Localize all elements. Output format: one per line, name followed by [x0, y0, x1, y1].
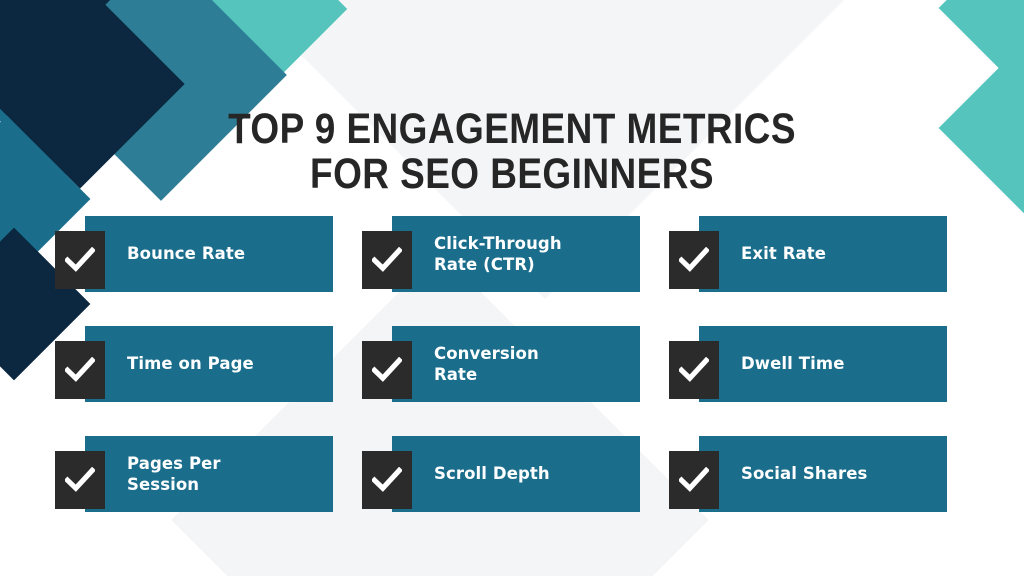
metric-label: Dwell Time — [741, 353, 854, 374]
check-icon[interactable] — [669, 231, 719, 289]
metric-label: Click-ThroughRate (CTR) — [434, 233, 572, 275]
page-title-line-1: TOP 9 ENGAGEMENT METRICS — [72, 107, 953, 152]
metric-label: Time on Page — [127, 353, 264, 374]
metrics-grid: Bounce RateClick-ThroughRate (CTR)Exit R… — [85, 216, 947, 512]
metric-card[interactable]: Click-ThroughRate (CTR) — [392, 216, 640, 292]
check-icon[interactable] — [362, 231, 412, 289]
check-icon[interactable] — [55, 341, 105, 399]
metric-card[interactable]: Time on Page — [85, 326, 333, 402]
metric-card[interactable]: Pages PerSession — [85, 436, 333, 512]
turquoise-diamond-right-top — [939, 0, 1024, 101]
check-icon[interactable] — [362, 341, 412, 399]
page-title: TOP 9 ENGAGEMENT METRICS FOR SEO BEGINNE… — [72, 107, 953, 197]
check-icon[interactable] — [55, 231, 105, 289]
check-icon[interactable] — [669, 341, 719, 399]
metric-label: Bounce Rate — [127, 243, 255, 264]
check-icon[interactable] — [362, 451, 412, 509]
metric-card[interactable]: ConversionRate — [392, 326, 640, 402]
metric-label: Social Shares — [741, 463, 877, 484]
metric-card[interactable]: Social Shares — [699, 436, 947, 512]
metric-label: Scroll Depth — [434, 463, 560, 484]
check-icon[interactable] — [669, 451, 719, 509]
metric-label: Pages PerSession — [127, 453, 231, 495]
metric-label: ConversionRate — [434, 343, 549, 385]
metric-label: Exit Rate — [741, 243, 836, 264]
metric-card[interactable]: Scroll Depth — [392, 436, 640, 512]
infographic-canvas: TOP 9 ENGAGEMENT METRICS FOR SEO BEGINNE… — [0, 0, 1024, 576]
metric-card[interactable]: Exit Rate — [699, 216, 947, 292]
check-icon[interactable] — [55, 451, 105, 509]
metric-card[interactable]: Bounce Rate — [85, 216, 333, 292]
turquoise-diamond-top-left — [29, 0, 241, 63]
metric-card[interactable]: Dwell Time — [699, 326, 947, 402]
page-title-line-2: FOR SEO BEGINNERS — [72, 152, 953, 197]
